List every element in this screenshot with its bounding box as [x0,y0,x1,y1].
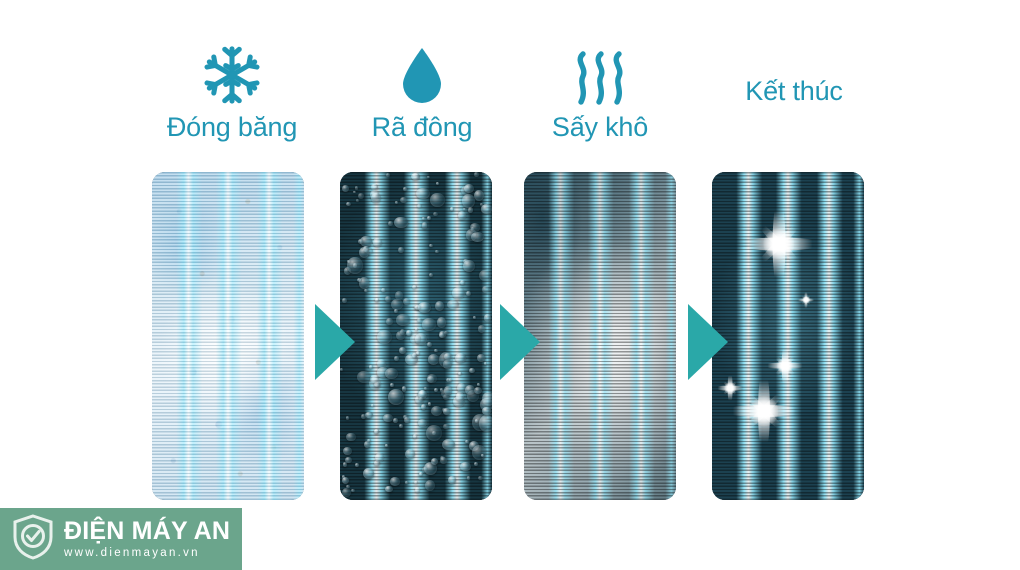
water-droplet [399,347,406,354]
water-droplet [439,333,444,338]
water-droplet [390,383,394,387]
water-droplet [405,449,415,459]
water-droplet [450,207,454,211]
water-droplet [443,360,452,369]
water-droplet [426,425,442,441]
water-droplet [460,462,471,471]
water-droplet [473,316,476,319]
water-droplet [429,273,433,277]
water-droplet [477,383,480,386]
water-droplet [417,204,421,208]
water-droplet [434,388,438,392]
water-droplet [394,217,407,229]
water-droplet [455,353,466,363]
water-droplet [424,387,427,390]
water-droplet [386,173,390,177]
water-droplet [435,301,444,311]
water-droplet [458,372,461,375]
water-droplet [371,184,377,189]
water-droplet [412,285,417,289]
water-droplet [430,193,444,207]
water-droplet [479,270,491,282]
step-label-2: Rã đông [322,112,522,143]
water-droplet [403,187,407,191]
step-image-clean [712,172,864,500]
water-droplet [370,190,379,200]
water-droplet [396,314,409,326]
water-droplet [355,463,359,467]
water-droplet [468,207,473,212]
water-droplet [425,480,435,491]
water-droplet [342,298,347,303]
step-header-2: Rã đông [322,34,522,143]
water-droplet [449,378,453,382]
water-droplet [391,299,403,310]
water-droplet [398,247,404,253]
water-droplet [367,439,371,443]
water-droplet [415,328,418,331]
water-droplet [456,392,465,401]
water-droplet [482,407,491,415]
water-droplet [460,280,465,286]
water-droplet [402,386,407,391]
water-droplet [356,199,359,202]
step-label-1: Đóng băng [132,112,332,143]
water-droplet [447,300,459,310]
water-droplet [484,362,487,365]
water-droplet [393,418,398,423]
water-droplet [478,476,483,480]
water-droplet [385,444,389,447]
water-droplet [361,414,366,419]
water-droplet [428,402,431,406]
water-droplet [364,441,371,448]
snowflake-icon [132,34,332,106]
water-droplet [410,334,422,344]
water-droplet [422,318,436,331]
water-droplet [452,287,465,299]
water-droplet [369,365,372,368]
water-droplet [345,457,352,464]
infographic-canvas: Đóng băng Rã đông Sấy khô Kết thúc [0,0,1020,570]
water-droplet [395,291,403,300]
water-droplet [427,216,431,220]
water-droplet [346,433,355,442]
water-droplet [363,468,374,479]
water-droplet [437,317,446,327]
water-droplet [415,487,421,493]
step-header-3: Sấy khô [500,34,700,143]
water-droplet [405,354,419,365]
water-droplet [477,354,485,362]
water-droplet [395,201,398,204]
water-droplet [463,208,466,211]
water-droplet [385,368,398,379]
water-droplet [343,447,352,455]
water-droplet [405,481,408,484]
water-droplet [390,477,400,485]
heat-waves-icon [500,34,700,106]
water-droplet [342,185,349,192]
water-droplet [357,278,361,282]
water-droplet [444,386,452,394]
step-label-4: Kết thúc [694,76,894,107]
water-droplet [343,462,347,466]
water-droplet [474,172,479,176]
water-droplet [462,194,476,208]
water-droplet [434,349,437,352]
water-droplet [428,354,440,365]
step-image-defrosting [340,172,492,500]
water-droplet [431,406,442,416]
water-droplet [419,397,423,401]
water-droplet [418,419,427,427]
water-droplet [357,371,371,383]
water-droplet [478,325,485,333]
coil-fin-lines [524,172,676,500]
water-droplet [429,244,433,247]
water-droplet [347,257,363,274]
water-droplet [388,389,403,405]
water-droplet [427,342,432,347]
step-image-frozen [152,172,304,500]
step-label-3: Sấy khô [500,112,700,143]
water-droplet [474,387,482,394]
arrow-step-2-to-3 [500,304,540,380]
water-droplet [375,298,379,302]
water-droplet [346,202,351,206]
water-droplet [353,191,356,194]
water-droplet [385,296,391,302]
arrow-step-1-to-2 [315,304,355,380]
water-droplet [443,408,450,415]
water-droplet [448,476,456,484]
brand-name: ĐIỆN MÁY AN [64,519,230,545]
water-droplet [479,415,492,432]
shield-check-icon [12,514,54,565]
water-droplet [351,489,355,492]
water-droplet [443,424,448,430]
water-droplet [469,368,475,374]
brand-url: www.dienmayan.vn [64,547,230,559]
water-droplet [413,434,417,439]
water-droplet [482,286,488,293]
water-droplet [416,188,429,199]
water-droplet [411,173,419,180]
water-droplet [365,412,372,418]
brand-logo[interactable]: ĐIỆN MÁY AN www.dienmayan.vn [0,508,242,570]
coil-fin-lines [712,172,864,500]
water-droplet [358,193,364,199]
coil-fin-lines [152,172,304,500]
water-droplet [342,477,349,484]
water-droplet [388,221,393,226]
water-droplet [417,318,422,322]
water-droplet [419,472,423,476]
water-droplet [414,481,417,484]
water-droplet [482,392,492,406]
water-droplet [386,318,392,325]
water-droplet [467,476,470,480]
water-droplet [440,457,447,464]
water-droplet [400,197,407,203]
water-droplet [371,404,374,407]
water-droplet [346,416,349,419]
water-droplet [475,419,479,422]
water-droplet [440,388,443,391]
water-droplet [403,415,407,419]
water-droplet [464,184,474,193]
water-droplet [399,424,403,428]
step-header-4: Kết thúc [694,70,894,107]
water-droplet [474,462,478,466]
water-droplet [421,404,426,410]
arrow-step-3-to-4 [688,304,728,380]
water-droplet [374,429,380,434]
water-droplet [355,186,359,190]
water-droplet [427,176,430,179]
water-droplet [484,314,492,321]
water-droplet [465,440,469,443]
water-droplet [431,458,438,465]
water-droplet [418,302,431,313]
water-droplet [481,204,492,214]
water-droplet [359,247,369,258]
water-droplet [472,445,486,459]
water-droplet [435,250,438,253]
water-droplet [444,353,451,360]
water-droplet [436,182,439,185]
water-droplet [394,356,399,361]
water-droplet [474,190,485,202]
water-droplet [381,288,385,292]
water-droplet [377,330,392,344]
water-droplet [427,374,437,383]
water-droplet [358,239,363,244]
water-droplet [422,222,428,228]
water-droplet [463,260,476,273]
water-droplet [373,238,382,246]
water-droplet [385,486,393,493]
water-droplet [403,298,410,305]
water-droplet [466,291,471,296]
water-droplet [406,330,411,336]
step-image-drying [524,172,676,500]
water-droplets-layer [340,172,492,500]
step-header-1: Đóng băng [132,34,332,143]
water-droplet [375,453,384,462]
water-droplet [458,211,466,220]
water-droplet [342,488,351,497]
water-droplet [433,212,438,216]
water-droplet [394,309,398,313]
water-droplet [422,217,425,220]
water-drop-icon [322,34,522,106]
water-droplet [383,414,393,422]
water-droplet [442,439,455,450]
water-droplet [364,289,368,292]
